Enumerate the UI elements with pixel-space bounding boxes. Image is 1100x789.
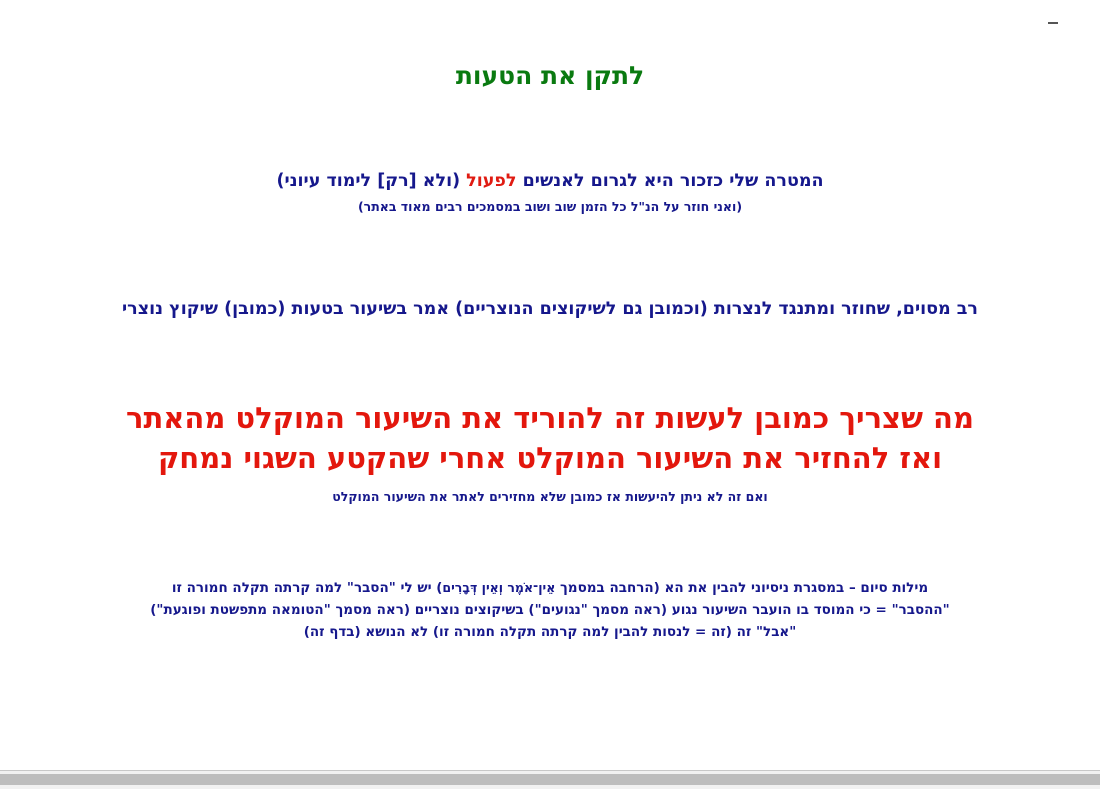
document-page: לתקן את הטעות המטרה שלי כזכור היא לגרום … <box>0 0 1100 789</box>
closing-paragraph: מילות סיום – במסגרת ניסיוני להבין את הא … <box>0 578 1100 644</box>
middle-block: רב מסוים, שחוזר ומתנגד לנצרות (וכמובן גם… <box>0 297 1100 322</box>
intro-line-part-2: (ולא [רק] לימוד עיוני) <box>276 171 466 191</box>
intro-note: (ואני חוזר על הנ"ל כל הזמן שוב ושוב במסמ… <box>0 198 1100 216</box>
intro-red-word: לפעול <box>466 171 516 191</box>
closing-line-1: מילות סיום – במסגרת ניסיוני להבין את הא … <box>0 578 1100 600</box>
closing-line-1-part-a: מילות סיום – במסגרת ניסיוני להבין את הא <box>665 580 929 596</box>
closing-line-1-part-c: ) יש לי "הסבר" למה קרתה תקלה חמורה זו <box>172 580 443 596</box>
callout-block: מה שצריך כמובן לעשות זה להוריד את השיעור… <box>0 398 1100 507</box>
middle-line: רב מסוים, שחוזר ומתנגד לנצרות (וכמובן גם… <box>0 297 1100 322</box>
closing-niqqud-quote: אֵין־אֹמֶר וְאֵין דְּבָרִים <box>442 580 555 595</box>
intro-line-part-1: המטרה שלי כזכור היא לגרום לאנשים <box>517 171 824 191</box>
callout-note: ואם זה לא ניתן להיעשות אז כמובן שלא מחזי… <box>0 488 1100 507</box>
callout-heading: מה שצריך כמובן לעשות זה להוריד את השיעור… <box>0 398 1100 478</box>
page-title: לתקן את הטעות <box>0 60 1100 91</box>
callout-line-2: ואז להחזיר את השיעור המוקלט אחרי שהקטע ה… <box>70 438 1030 478</box>
scrollbar-thumb[interactable] <box>0 774 1100 785</box>
closing-block: מילות סיום – במסגרת ניסיוני להבין את הא … <box>0 578 1100 644</box>
horizontal-scrollbar[interactable] <box>0 770 1100 789</box>
corner-dash-mark <box>1048 22 1058 24</box>
intro-line: המטרה שלי כזכור היא לגרום לאנשים לפעול (… <box>0 170 1100 194</box>
closing-line-2: "ההסבר" = כי המוסד בו הועבר השיעור נגוע … <box>0 600 1100 622</box>
callout-line-1: מה שצריך כמובן לעשות זה להוריד את השיעור… <box>70 398 1030 438</box>
intro-block: המטרה שלי כזכור היא לגרום לאנשים לפעול (… <box>0 170 1100 215</box>
closing-line-1-part-b: (הרחבה במסמך <box>555 580 664 596</box>
closing-line-3: "אבל" זה (זה = לנסות להבין למה קרתה תקלה… <box>0 622 1100 644</box>
